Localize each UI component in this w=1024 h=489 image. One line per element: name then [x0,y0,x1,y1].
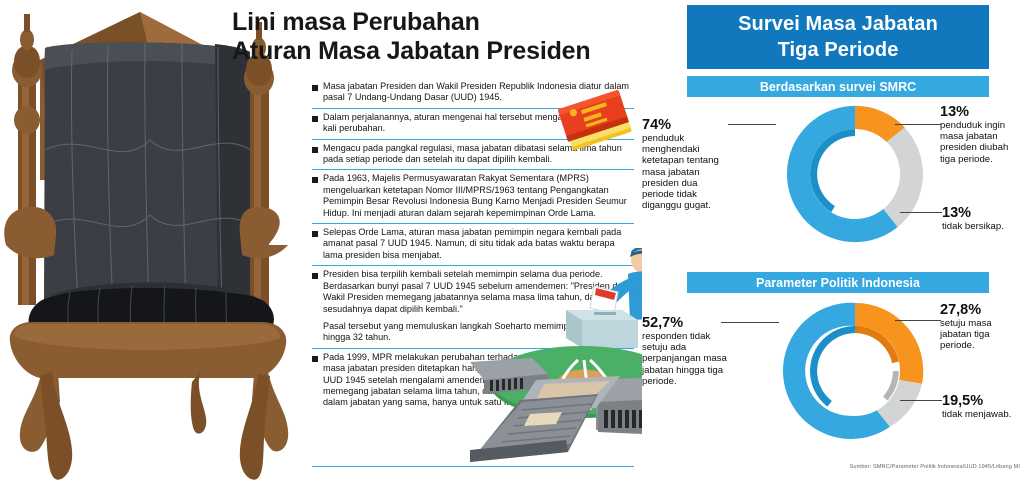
leader-line [728,124,776,125]
square-bullet-icon [312,231,318,237]
source-note: Sumber: SMRC/Parameter Politik Indonesia… [642,464,1024,470]
band-smrc: Berdasarkan survei SMRC [687,76,989,97]
square-bullet-icon [312,356,318,362]
leader-line [895,320,941,321]
book-svg [556,88,638,160]
callout-13-percent-tidak-bersikap: 13% tidak bersikap. [942,205,1022,232]
panel-header: Survei Masa Jabatan Tiga Periode [687,5,989,69]
callout-description: penduduk ingin masa jabatan presiden diu… [940,120,1024,165]
title-line-2: Aturan Masa Jabatan Presiden [232,37,642,66]
callout-value: 13% [942,205,1022,221]
callout-value: 52,7% [642,315,734,331]
square-bullet-icon [312,273,318,279]
throne-chair-illustration [0,0,300,484]
callout-527-percent: 52,7% responden tidak setuju ada perpanj… [642,315,734,387]
title-line-1: Lini masa Perubahan [232,8,480,36]
callout-description: setuju masa jabatan tiga periode. [940,318,1022,352]
callout-value: 19,5% [942,393,1022,409]
panel-header-line-2: Tiga Periode [778,39,899,61]
callout-description: tidak menjawab. [942,409,1022,420]
square-bullet-icon [312,116,318,122]
callout-74-percent: 74% penduduk menghendaki ketetapan tenta… [642,117,728,211]
leader-line [895,124,941,125]
callout-description: responden tidak setuju ada perpanjangan … [642,331,734,387]
leader-line [900,212,942,213]
square-bullet-icon [312,147,318,153]
square-bullet-icon [312,85,318,91]
chair-svg [0,0,300,484]
callout-195-percent: 19,5% tidak menjawab. [942,393,1022,420]
red-law-book-illustration [556,88,638,160]
page-title: Lini masa Perubahan Aturan Masa Jabatan … [232,8,642,66]
band-parameter-politik: Parameter Politik Indonesia [687,272,989,293]
callout-value: 27,8% [940,302,1022,318]
survey-panel: Survei Masa Jabatan Tiga Periode Berdasa… [642,0,1024,484]
leader-line [900,400,942,401]
leader-line [721,322,779,323]
callout-description: penduduk menghendaki ketetapan tentang m… [642,133,728,211]
callout-278-percent: 27,8% setuju masa jabatan tiga periode. [940,302,1022,352]
callout-value: 13% [940,104,1024,120]
timeline-item: Pada 1963, Majelis Permusyawaratan Rakya… [312,169,634,223]
square-bullet-icon [312,177,318,183]
panel-header-line-1: Survei Masa Jabatan [738,13,938,35]
callout-13-percent-ubah: 13% penduduk ingin masa jabatan presiden… [940,104,1024,165]
infographic-root: Lini masa Perubahan Aturan Masa Jabatan … [0,0,1024,484]
callout-value: 74% [642,117,728,133]
donut-chart-smrc [781,100,929,248]
timeline-item-text: Pada 1963, Majelis Permusyawaratan Rakya… [312,173,634,219]
callout-description: tidak bersikap. [942,221,1022,232]
